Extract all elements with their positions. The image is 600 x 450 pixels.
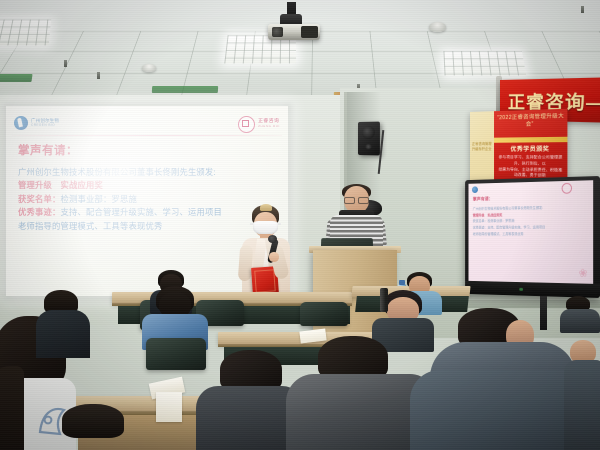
slide-divider <box>12 135 282 136</box>
monitor-watermark-icon: ❀ <box>578 266 589 280</box>
chair-back-right <box>300 302 348 326</box>
attendee-hair-strand <box>0 366 24 450</box>
monitor-slide-lines: 广州创尔生物技术股份有限公司董事长佟刚先生颁发: 管理升级 实战应用奖 获奖名单… <box>473 204 590 237</box>
slide-title: 掌声有请： <box>18 142 282 158</box>
attendee-far-right-edge <box>564 340 600 450</box>
speaker-woofer-icon <box>362 126 375 139</box>
slide-line-award: 管理升级 实战应用奖 <box>18 179 282 192</box>
monitor-screen: 掌声有请： 广州创尔生物技术股份有限公司董事长佟刚先生颁发: 管理升级 实战应用… <box>469 180 594 284</box>
ceiling-projector <box>268 2 320 42</box>
sprinkler-head-icon <box>64 60 67 67</box>
face-mask-icon <box>253 221 278 235</box>
projector-lens-icon <box>272 27 283 37</box>
monitor-slide-logos <box>472 182 589 195</box>
ceiling-light-panel <box>0 19 51 45</box>
woman-right-hand <box>269 252 279 262</box>
monitor-power-led <box>519 288 523 291</box>
poster-body-line: 参与项目学习、支持配合公司管理提升、执行到位、以 <box>497 155 564 167</box>
slide-logo-cregen: 广州创尔生物 CREGEN BIO <box>14 114 76 132</box>
wall-monitor: 掌声有请： 广州创尔生物技术股份有限公司董事长佟刚先生颁发: 管理升级 实战应用… <box>465 176 600 298</box>
slide-citation-label: 优秀事迹： <box>18 207 61 217</box>
attendee-left-edge <box>36 290 90 352</box>
ceiling-vent-panel <box>0 74 33 82</box>
slide-logo-zhengrui: 正睿咨询 ZHENG RUI <box>238 115 280 133</box>
attendee-grey-jacket <box>44 404 174 450</box>
ceiling-light-panel <box>443 51 526 75</box>
certificate-border <box>254 269 275 292</box>
cregen-logo-icon <box>14 116 28 130</box>
zhengrui-logo-subtitle: ZHENG RUI <box>258 125 280 128</box>
thermos-flask <box>380 288 388 312</box>
poster-side-text: 正睿咨询管理升级标杆企业 <box>472 142 493 152</box>
monitor-slide-title: 掌声有请： <box>473 196 493 202</box>
monitor-cregen-logo-icon <box>472 186 478 193</box>
sprinkler-head-icon <box>97 72 100 79</box>
hair-clip <box>260 204 272 211</box>
slide-line: 广州创尔生物技术股份有限公司董事长佟刚先生颁发: <box>18 166 282 179</box>
attendee-torso <box>410 370 590 450</box>
poster-gold-divider <box>494 137 567 143</box>
wall-speaker <box>358 122 380 156</box>
slide-winner-value: 检测事业部：罗思施 <box>61 194 137 204</box>
slide-citation-value: 支持、配合管理升级实施、学习、运用项目 <box>61 207 222 217</box>
attendee-torso <box>36 310 90 358</box>
zhengrui-logo-icon <box>238 116 255 133</box>
glasses-icon <box>344 197 369 202</box>
microphone-capsule-icon <box>268 235 277 243</box>
cregen-logo-subtitle: CREGEN BIO <box>31 124 59 127</box>
attendee-torso <box>564 360 600 450</box>
sprinkler-head-icon <box>581 6 584 13</box>
poster-title-text: 优秀学员颁奖 <box>496 144 565 153</box>
screenshot-root: 正睿咨询—广 正睿咨询管理升级标杆企业 “2022正睿咨询管理升级大会” 优秀学… <box>0 0 600 450</box>
attendee-hair <box>62 404 124 438</box>
projector-vent <box>301 26 318 38</box>
attendee-hoodie <box>410 308 590 450</box>
slide-winner-label: 获奖名单： <box>18 194 61 204</box>
poster-body-text: 参与项目学习、支持配合公司管理提升、执行到位、以 结果为导向、主动承担责任、积极… <box>497 155 564 180</box>
poster-header-text: “2022正睿咨询管理升级大会” <box>496 113 565 129</box>
speaker-tweeter-icon <box>365 144 372 149</box>
smoke-detector-icon <box>429 22 446 32</box>
ceiling-vent-panel <box>152 86 218 93</box>
smoke-detector-icon <box>142 64 156 72</box>
monitor-zhengrui-logo-icon <box>562 183 572 194</box>
monitor-slide-line: 老师指导的管理模式、工具等表现优秀 <box>473 231 590 238</box>
